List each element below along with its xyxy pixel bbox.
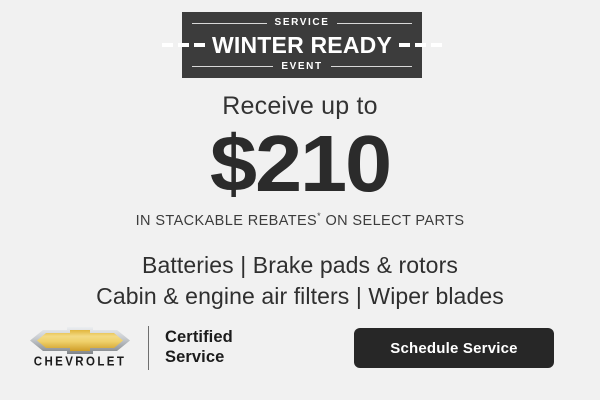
offer-amount: $210 [0,124,600,204]
dash-icon [399,43,410,47]
dash-icon [194,43,205,47]
parts-line-1: Batteries | Brake pads & rotors [0,250,600,281]
offer-terms: IN STACKABLE REBATES* ON SELECT PARTS [0,214,600,229]
badge-bottom-label: EVENT [281,62,322,72]
offer-terms-suffix: ON SELECT PARTS [321,213,464,229]
dash-icon [431,43,442,47]
dash-icon [178,43,189,47]
badge-top-row: SERVICE [182,16,422,31]
eligible-parts-list: Batteries | Brake pads & rotors Cabin & … [0,250,600,311]
badge-top-label: SERVICE [275,18,330,28]
advertisement-banner: SERVICE WINTER READY EVENT Receive up to… [0,0,600,400]
chevrolet-bowtie-icon [30,327,130,354]
badge-rule-right [337,23,412,24]
badge-title: WINTER READY [212,34,392,57]
certified-line-2: Service [165,348,233,368]
chevrolet-logo: CHEVROLET [28,327,132,369]
brand-lockup: CHEVROLET Certified Service [28,322,233,374]
offer-terms-text: IN STACKABLE REBATES [136,213,318,229]
certified-line-1: Certified [165,328,233,348]
dash-icon [162,43,173,47]
badge-rule-left [192,66,273,67]
badge-rule-left [192,23,267,24]
badge-dashes-right [399,43,442,47]
certified-service-label: Certified Service [165,328,233,368]
brand-divider [148,326,149,370]
badge-rule-right [331,66,412,67]
dash-icon [415,43,426,47]
offer-lead-in: Receive up to [0,94,600,119]
badge-dashes-left [162,43,205,47]
badge-title-row: WINTER READY [182,31,422,60]
badge-bottom-row: EVENT [182,60,422,75]
schedule-service-button[interactable]: Schedule Service [354,328,554,368]
parts-line-2: Cabin & engine air filters | Wiper blade… [0,281,600,312]
footer: CHEVROLET Certified Service Schedule Ser… [28,322,572,374]
chevrolet-wordmark: CHEVROLET [34,357,127,370]
winter-ready-event-badge: SERVICE WINTER READY EVENT [182,12,422,78]
